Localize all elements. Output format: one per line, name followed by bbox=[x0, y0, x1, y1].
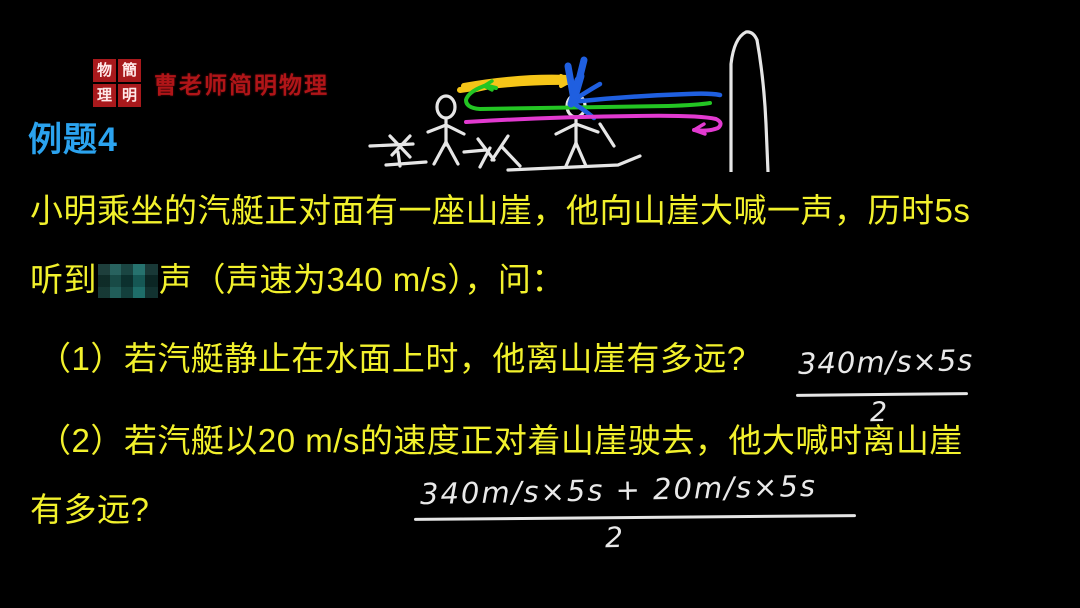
logo-char-4: 明 bbox=[118, 84, 141, 107]
problem-stem-line-2: 听到声（声速为340 m/s），问： bbox=[30, 262, 565, 298]
magenta-sound-ray bbox=[466, 116, 721, 131]
logo-char-1: 物 bbox=[93, 59, 116, 82]
hand-drawn-sketch bbox=[368, 24, 780, 172]
logo-char-3: 理 bbox=[93, 84, 116, 107]
handwritten-formula-1-numerator: 340m/s×5s bbox=[798, 343, 974, 381]
handwritten-formula-2-fraction-bar bbox=[414, 514, 856, 521]
logo-char-2: 簡 bbox=[118, 59, 141, 82]
handwritten-formula-2-denominator: 2 bbox=[605, 521, 625, 554]
brand-name-text: 曹老师简明物理 bbox=[154, 66, 329, 100]
redacted-block bbox=[98, 264, 158, 298]
question-item-1: （1）若汽艇静止在水面上时，他离山崖有多远? bbox=[38, 341, 746, 377]
problem-stem-suffix: 声（声速为340 m/s），问： bbox=[159, 261, 565, 298]
waterline-strokes bbox=[370, 136, 640, 170]
slide-canvas: 物 簡 理 明 曹老师简明物理 例题4 小明乘坐的汽艇正对面有一座山崖，他向山崖… bbox=[0, 0, 1080, 608]
question-item-2-line-1: （2）若汽艇以20 m/s的速度正对着山崖驶去，他大喊时离山崖 bbox=[38, 423, 963, 459]
logo-grid-icon: 物 簡 理 明 bbox=[92, 58, 142, 108]
question-item-2-line-2: 有多远? bbox=[30, 492, 149, 528]
problem-stem-prefix: 听到 bbox=[30, 261, 97, 298]
blue-sound-ray bbox=[571, 84, 720, 118]
handwritten-formula-2-numerator: 340m/s×5s + 20m/s×5s bbox=[420, 469, 818, 511]
stick-figure-left bbox=[428, 96, 464, 164]
cliff-outline bbox=[731, 32, 768, 172]
handwritten-formula-1-denominator: 2 bbox=[870, 397, 889, 428]
page-title: 例题4 bbox=[28, 112, 118, 161]
problem-stem-line-1: 小明乘坐的汽艇正对面有一座山崖，他向山崖大喊一声，历时5s bbox=[30, 193, 970, 229]
brand-logo: 物 簡 理 明 曹老师简明物理 bbox=[92, 58, 329, 108]
